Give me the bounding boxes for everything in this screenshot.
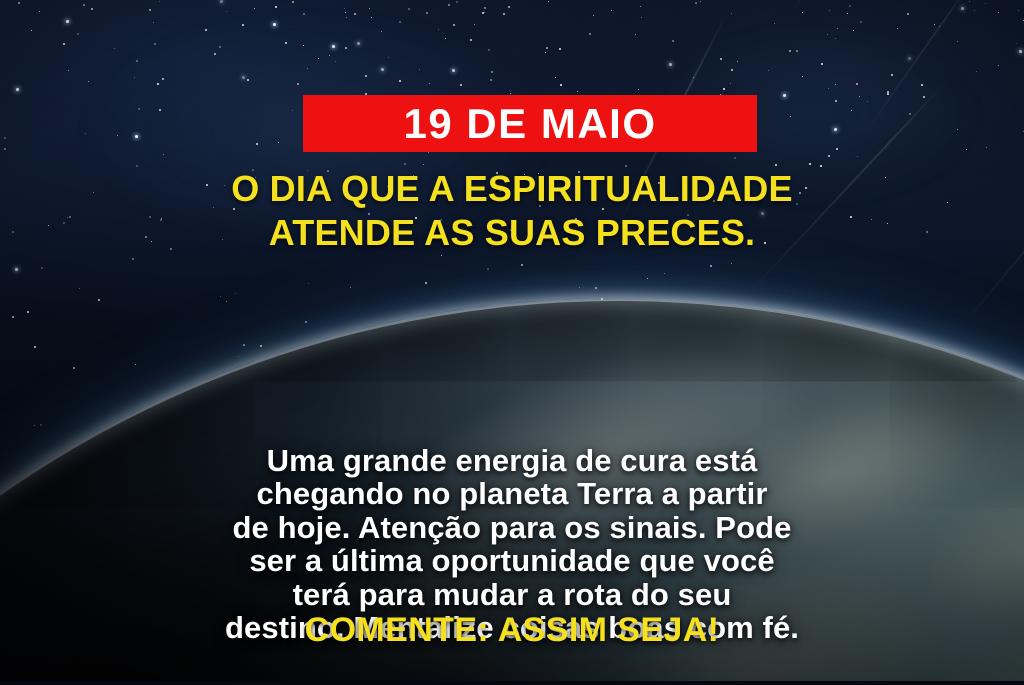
headline: O DIA QUE A ESPIRITUALIDADE ATENDE AS SU… xyxy=(0,167,1024,255)
body-line: ser a última oportunidade que você xyxy=(0,544,1024,577)
poster-content: 19 DE MAIO O DIA QUE A ESPIRITUALIDADE A… xyxy=(0,0,1024,685)
call-to-action-text: COMENTE: ASSIM SEJA! xyxy=(0,612,1024,649)
body-line: de hoje. Atenção para os sinais. Pode xyxy=(0,511,1024,544)
date-banner: 19 DE MAIO xyxy=(303,95,757,152)
body-line: Uma grande energia de cura está xyxy=(0,444,1024,477)
date-banner-text: 19 DE MAIO xyxy=(403,103,656,145)
poster-root: 19 DE MAIO O DIA QUE A ESPIRITUALIDADE A… xyxy=(0,0,1024,685)
bottom-edge-strip xyxy=(0,681,1024,685)
body-line: chegando no planeta Terra a partir xyxy=(0,477,1024,510)
body-line: terá para mudar a rota do seu xyxy=(0,578,1024,611)
headline-line-2: ATENDE AS SUAS PRECES. xyxy=(0,211,1024,255)
headline-line-1: O DIA QUE A ESPIRITUALIDADE xyxy=(0,167,1024,211)
